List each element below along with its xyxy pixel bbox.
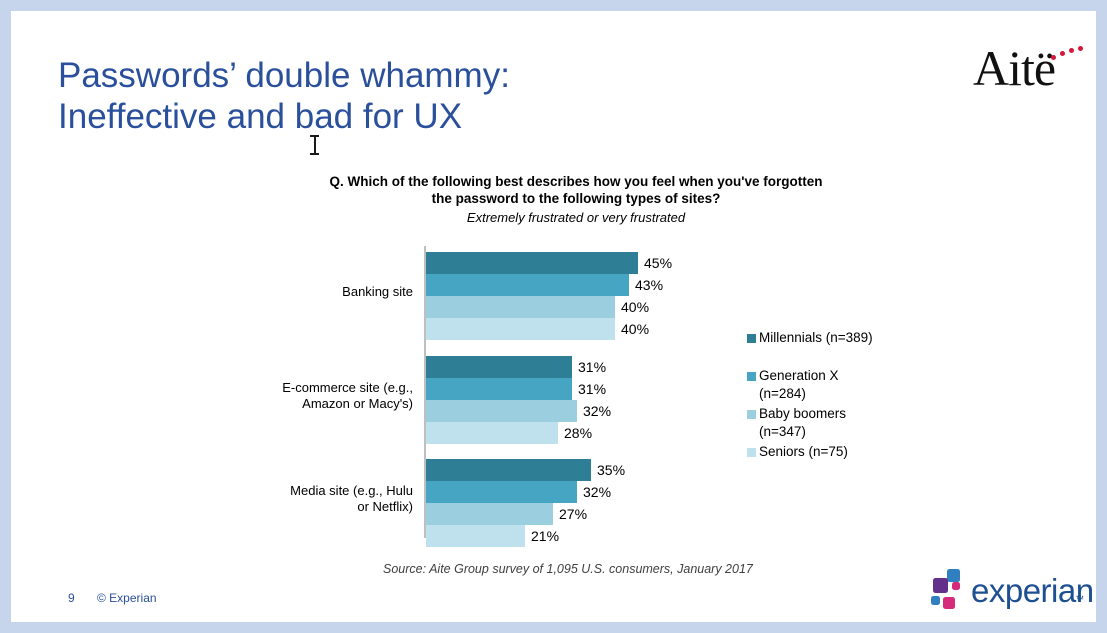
bar-generation-x xyxy=(426,481,577,503)
experian-logo-square xyxy=(947,569,960,582)
experian-logo-square xyxy=(952,582,960,590)
slide-canvas: Passwords’ double whammy: Ineffective an… xyxy=(11,11,1096,622)
experian-logo-square xyxy=(931,596,940,605)
bar-baby-boomers xyxy=(426,503,553,525)
bar-millennials xyxy=(426,252,638,274)
bar-value-label: 32% xyxy=(583,482,611,502)
bar-value-label: 40% xyxy=(621,297,649,317)
bar-millennials xyxy=(426,459,591,481)
text-cursor-pointer xyxy=(310,134,319,156)
aite-wordmark: Aitë xyxy=(973,43,1055,93)
footer-copyright: © Experian xyxy=(97,591,157,606)
bar-seniors xyxy=(426,318,615,340)
footer-page-number: 9 xyxy=(68,591,75,606)
legend-label: Millennials (n=389) xyxy=(759,329,959,347)
experian-logo-square xyxy=(943,597,955,609)
experian-logo: experian ™ xyxy=(929,567,1089,617)
bar-value-label: 28% xyxy=(564,423,592,443)
aite-logo-dot xyxy=(1069,48,1074,53)
bar-baby-boomers xyxy=(426,296,615,318)
aite-logo-dot xyxy=(1060,51,1065,56)
bar-value-label: 27% xyxy=(559,504,587,524)
experian-trademark: ™ xyxy=(1075,594,1084,604)
bar-value-label: 35% xyxy=(597,460,625,480)
slide-frame: Passwords’ double whammy: Ineffective an… xyxy=(0,0,1107,633)
legend-swatch-icon xyxy=(747,448,756,457)
chart-container: Q. Which of the following best describes… xyxy=(247,166,967,586)
bar-baby-boomers xyxy=(426,400,577,422)
category-axis-label: Banking site xyxy=(247,284,413,300)
bar-seniors xyxy=(426,422,558,444)
category-axis-label: Media site (e.g., Hulu or Netflix) xyxy=(247,483,413,514)
legend-swatch-icon xyxy=(747,334,756,343)
bar-value-label: 40% xyxy=(621,319,649,339)
bar-value-label: 43% xyxy=(635,275,663,295)
bar-value-label: 32% xyxy=(583,401,611,421)
legend-swatch-icon xyxy=(747,372,756,381)
chart-question-title: Q. Which of the following best describes… xyxy=(321,174,831,207)
bar-value-label: 31% xyxy=(578,357,606,377)
aite-logo: Aitë xyxy=(973,39,1085,97)
chart-source-note: Source: Aite Group survey of 1,095 U.S. … xyxy=(383,561,943,577)
aite-logo-dot xyxy=(1051,55,1056,60)
bar-value-label: 21% xyxy=(531,526,559,546)
bar-value-label: 45% xyxy=(644,253,672,273)
bar-generation-x xyxy=(426,274,629,296)
legend-label: Seniors (n=75) xyxy=(759,443,959,461)
bar-seniors xyxy=(426,525,525,547)
bar-millennials xyxy=(426,356,572,378)
aite-logo-dot xyxy=(1078,46,1083,51)
page-title: Passwords’ double whammy: Ineffective an… xyxy=(58,55,758,137)
category-axis-label: E-commerce site (e.g., Amazon or Macy's) xyxy=(247,380,413,411)
chart-subtitle: Extremely frustrated or very frustrated xyxy=(321,210,831,226)
bar-generation-x xyxy=(426,378,572,400)
experian-logo-square xyxy=(933,578,948,593)
legend-label: Generation X (n=284) xyxy=(759,367,959,402)
legend-label: Baby boomers (n=347) xyxy=(759,405,959,440)
bar-value-label: 31% xyxy=(578,379,606,399)
legend-swatch-icon xyxy=(747,410,756,419)
